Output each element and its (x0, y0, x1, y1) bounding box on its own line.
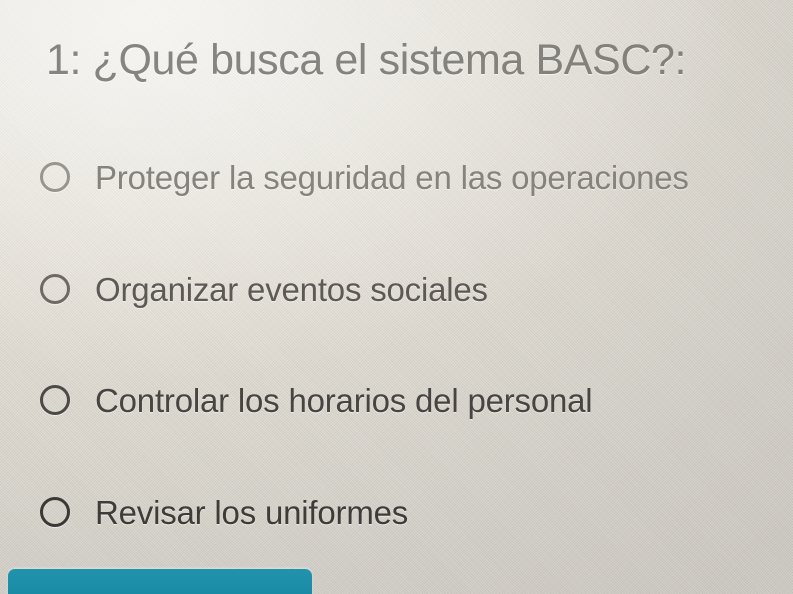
radio-unchecked-icon[interactable] (40, 274, 70, 304)
answer-options-list: Proteger la seguridad en las operaciones… (0, 148, 793, 594)
quiz-screen: 1: ¿Qué busca el sistema BASC?: Proteger… (0, 0, 793, 594)
question-title: 1: ¿Qué busca el sistema BASC?: (46, 32, 786, 88)
answer-option-label: Revisar los uniformes (95, 496, 408, 530)
answer-option-a[interactable]: Proteger la seguridad en las operaciones (0, 148, 793, 260)
answer-option-c[interactable]: Controlar los horarios del personal (0, 371, 793, 483)
answer-option-label: Organizar eventos sociales (95, 273, 488, 307)
answer-option-label: Controlar los horarios del personal (95, 384, 592, 418)
answer-option-label: Proteger la seguridad en las operaciones (95, 161, 689, 195)
radio-unchecked-icon[interactable] (40, 385, 70, 415)
answer-option-b[interactable]: Organizar eventos sociales (0, 260, 793, 372)
radio-unchecked-icon[interactable] (40, 162, 70, 192)
submit-button[interactable] (8, 569, 312, 594)
radio-unchecked-icon[interactable] (40, 497, 70, 527)
